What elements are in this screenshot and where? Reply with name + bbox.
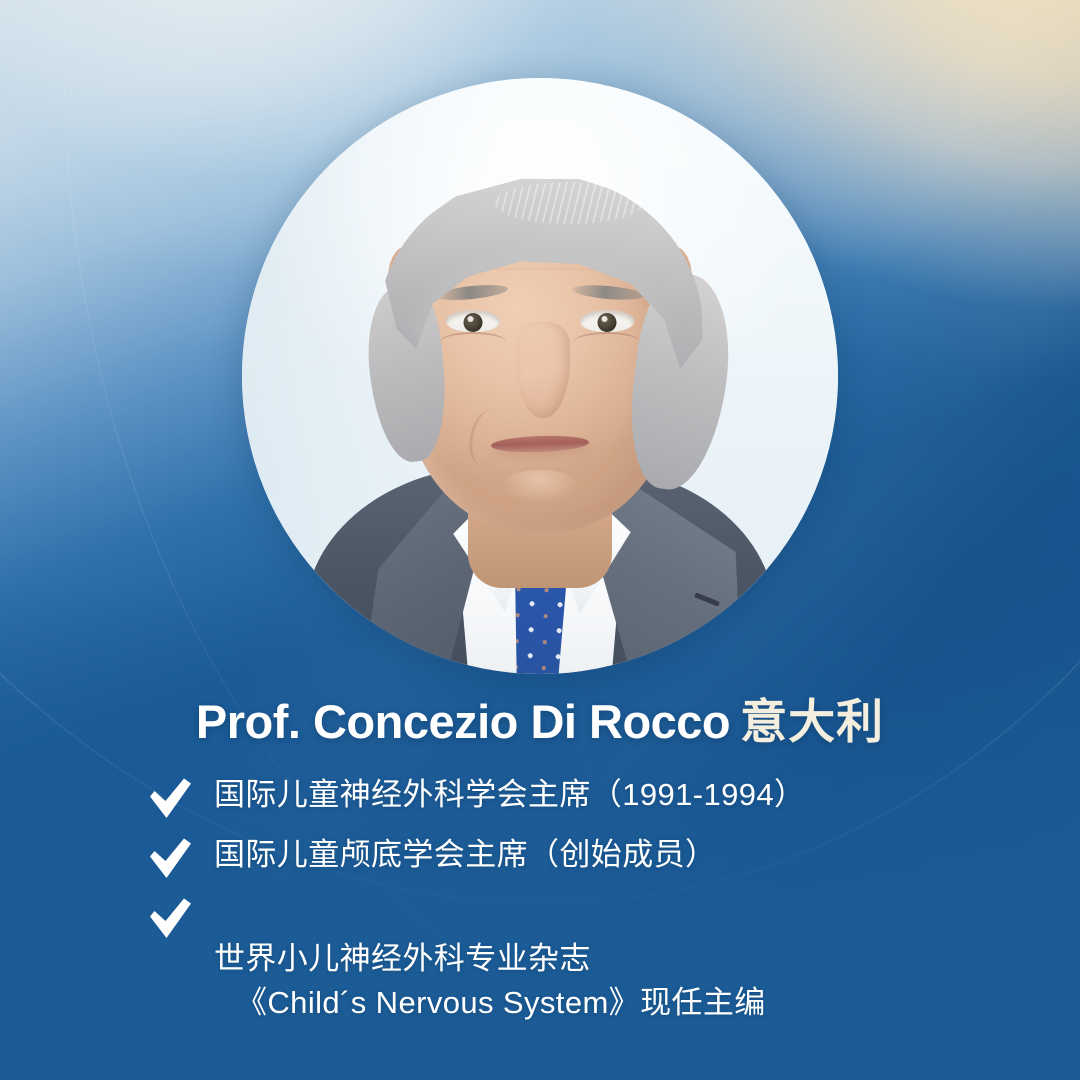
portrait-photo [242,78,838,674]
credential-text-line-1: 世界小儿神经外科专业杂志 [214,941,591,976]
portrait-hair-wisp [494,182,644,224]
portrait-chin [500,470,580,504]
speaker-portrait [242,78,838,674]
credential-text-line-2: 《Child´s Nervous System》现任主编 [214,981,766,1025]
speaker-country: 意大利 [740,695,884,748]
speaker-name: Prof. Concezio Di Rocco [196,695,730,748]
page-title: Prof. Concezio Di Rocco意大利 [0,694,1080,749]
portrait-eye-right [580,310,634,332]
list-item: 国际儿童颅底学会主席（创始成员） [0,833,1080,879]
list-item: 国际儿童神经外科学会主席（1991-1994） [0,773,1080,819]
check-icon [148,777,192,819]
speaker-info: Prof. Concezio Di Rocco意大利 国际儿童神经外科学会主席（… [0,694,1080,1080]
portrait-eyebag-right [574,332,640,352]
list-item: 世界小儿神经外科专业杂志 《Child´s Nervous System》现任主… [0,893,1080,1069]
check-icon [148,897,192,939]
credential-text: 国际儿童颅底学会主席（创始成员） [214,833,716,877]
portrait-eyebag-left [440,332,506,352]
portrait-eye-left [446,310,500,332]
check-icon [148,837,192,879]
speaker-profile-card: Prof. Concezio Di Rocco意大利 国际儿童神经外科学会主席（… [0,0,1080,1080]
credential-list: 国际儿童神经外科学会主席（1991-1994） 国际儿童颅底学会主席（创始成员） [0,773,1080,1069]
credential-text: 国际儿童神经外科学会主席（1991-1994） [214,773,805,817]
credential-text: 世界小儿神经外科专业杂志 《Child´s Nervous System》现任主… [214,893,766,1069]
